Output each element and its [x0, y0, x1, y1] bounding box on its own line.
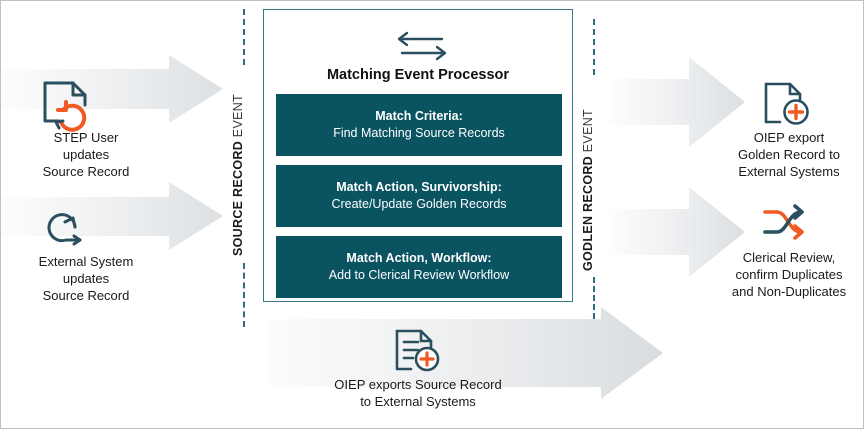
- golden-record-event-light: EVENT: [581, 109, 595, 156]
- shuffle-icon: [759, 199, 821, 250]
- arrow-step-user: [1, 55, 223, 123]
- exchange-arrows-icon: [386, 26, 452, 71]
- card-detail: Add to Clerical Review Workflow: [329, 267, 509, 284]
- source-lane-dash-bottom: [243, 263, 245, 327]
- golden-record-event-strong: GODLEN RECORD: [581, 156, 595, 271]
- golden-record-event-label: GODLEN RECORD EVENT: [581, 109, 595, 271]
- processor-card-match-action-survivorship: Match Action, Survivorship: Create/Updat…: [276, 165, 562, 227]
- diagram-canvas: STEP User updates Source Record External…: [0, 0, 864, 429]
- source-label-step-user: STEP User updates Source Record: [1, 129, 171, 180]
- processor-title: Matching Event Processor: [264, 67, 572, 83]
- card-heading: Match Action, Survivorship:: [336, 179, 502, 196]
- processor-card-match-action-workflow: Match Action, Workflow: Add to Clerical …: [276, 236, 562, 298]
- document-lines-plus-icon: [389, 326, 451, 381]
- source-record-event-label: SOURCE RECORD EVENT: [231, 94, 245, 256]
- card-heading: Match Criteria:: [375, 108, 463, 125]
- golden-lane-dash-top: [593, 19, 595, 75]
- source-lane-dash-top: [243, 9, 245, 65]
- card-detail: Create/Update Golden Records: [331, 196, 506, 213]
- bottom-flow-label: OIEP exports Source Record to External S…: [263, 376, 573, 410]
- output-label-clerical-review: Clerical Review, confirm Duplicates and …: [715, 249, 863, 300]
- arrow-external-system: [1, 182, 223, 250]
- source-record-event-light: EVENT: [231, 94, 245, 141]
- refresh-arrow-icon: [41, 203, 101, 258]
- matching-event-processor-box: Matching Event Processor Match Criteria:…: [263, 9, 573, 302]
- source-record-event-strong: SOURCE RECORD: [231, 141, 245, 256]
- document-plus-icon: [758, 79, 820, 136]
- golden-lane-dash-bottom: [593, 277, 595, 319]
- output-label-golden-export: OIEP export Golden Record to External Sy…: [719, 129, 859, 180]
- card-detail: Find Matching Source Records: [333, 125, 505, 142]
- source-label-external-system: External System updates Source Record: [1, 253, 171, 304]
- processor-card-match-criteria: Match Criteria: Find Matching Source Rec…: [276, 94, 562, 156]
- card-heading: Match Action, Workflow:: [346, 250, 491, 267]
